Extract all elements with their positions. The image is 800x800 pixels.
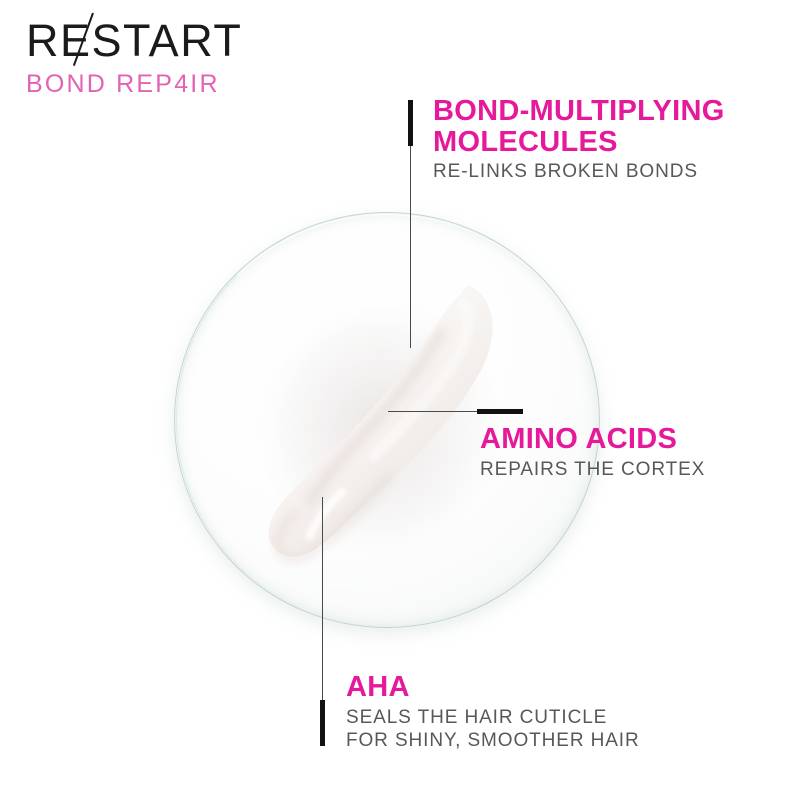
infographic-canvas: RESTART BOND REP4IR bbox=[0, 0, 800, 800]
callout-title: BOND-MULTIPLYING MOLECULES bbox=[433, 96, 725, 157]
callout-title-line1: AMINO ACIDS bbox=[480, 424, 705, 455]
callout-bond-multiplying-molecules: BOND-MULTIPLYING MOLECULES RE-LINKS BROK… bbox=[433, 96, 725, 184]
callout-marker-amino-acids bbox=[477, 409, 523, 414]
brand-name: RESTART bbox=[26, 18, 242, 63]
brand-lockup: RESTART BOND REP4IR bbox=[26, 18, 242, 97]
callout-title: AHA bbox=[346, 672, 640, 703]
callout-amino-acids: AMINO ACIDS REPAIRS THE CORTEX bbox=[480, 424, 705, 481]
callout-leader-aha bbox=[322, 497, 323, 700]
callout-description: RE-LINKS BROKEN BONDS bbox=[433, 160, 725, 183]
callout-leader-amino-acids bbox=[388, 411, 478, 412]
callout-description: REPAIRS THE CORTEX bbox=[480, 458, 705, 481]
brand-subtitle-part2: IR bbox=[190, 70, 219, 98]
callout-description: SEALS THE HAIR CUTICLE FOR SHINY, SMOOTH… bbox=[346, 706, 640, 752]
callout-marker-aha bbox=[320, 700, 325, 746]
callout-desc-line1: REPAIRS THE CORTEX bbox=[480, 458, 705, 481]
brand-subtitle-part1: BOND REP bbox=[26, 70, 174, 98]
callout-marker-bond-multiplying-molecules bbox=[408, 100, 413, 146]
brand-subtitle: BOND REP4IR bbox=[26, 72, 242, 97]
callout-aha: AHA SEALS THE HAIR CUTICLE FOR SHINY, SM… bbox=[346, 672, 640, 752]
callout-title-line2: MOLECULES bbox=[433, 127, 725, 158]
callout-desc-line1: RE-LINKS BROKEN BONDS bbox=[433, 160, 725, 183]
brand-name-part2: START bbox=[92, 15, 243, 66]
cream-swatch bbox=[174, 212, 600, 628]
callout-title-line1: BOND-MULTIPLYING bbox=[433, 96, 725, 127]
brand-subtitle-four: 4 bbox=[174, 72, 190, 97]
callout-desc-line2: FOR SHINY, SMOOTHER HAIR bbox=[346, 729, 640, 752]
callout-leader-bond-multiplying-molecules bbox=[410, 146, 411, 348]
callout-title-line1: AHA bbox=[346, 672, 640, 703]
callout-desc-line1: SEALS THE HAIR CUTICLE bbox=[346, 706, 640, 729]
callout-title: AMINO ACIDS bbox=[480, 424, 705, 455]
